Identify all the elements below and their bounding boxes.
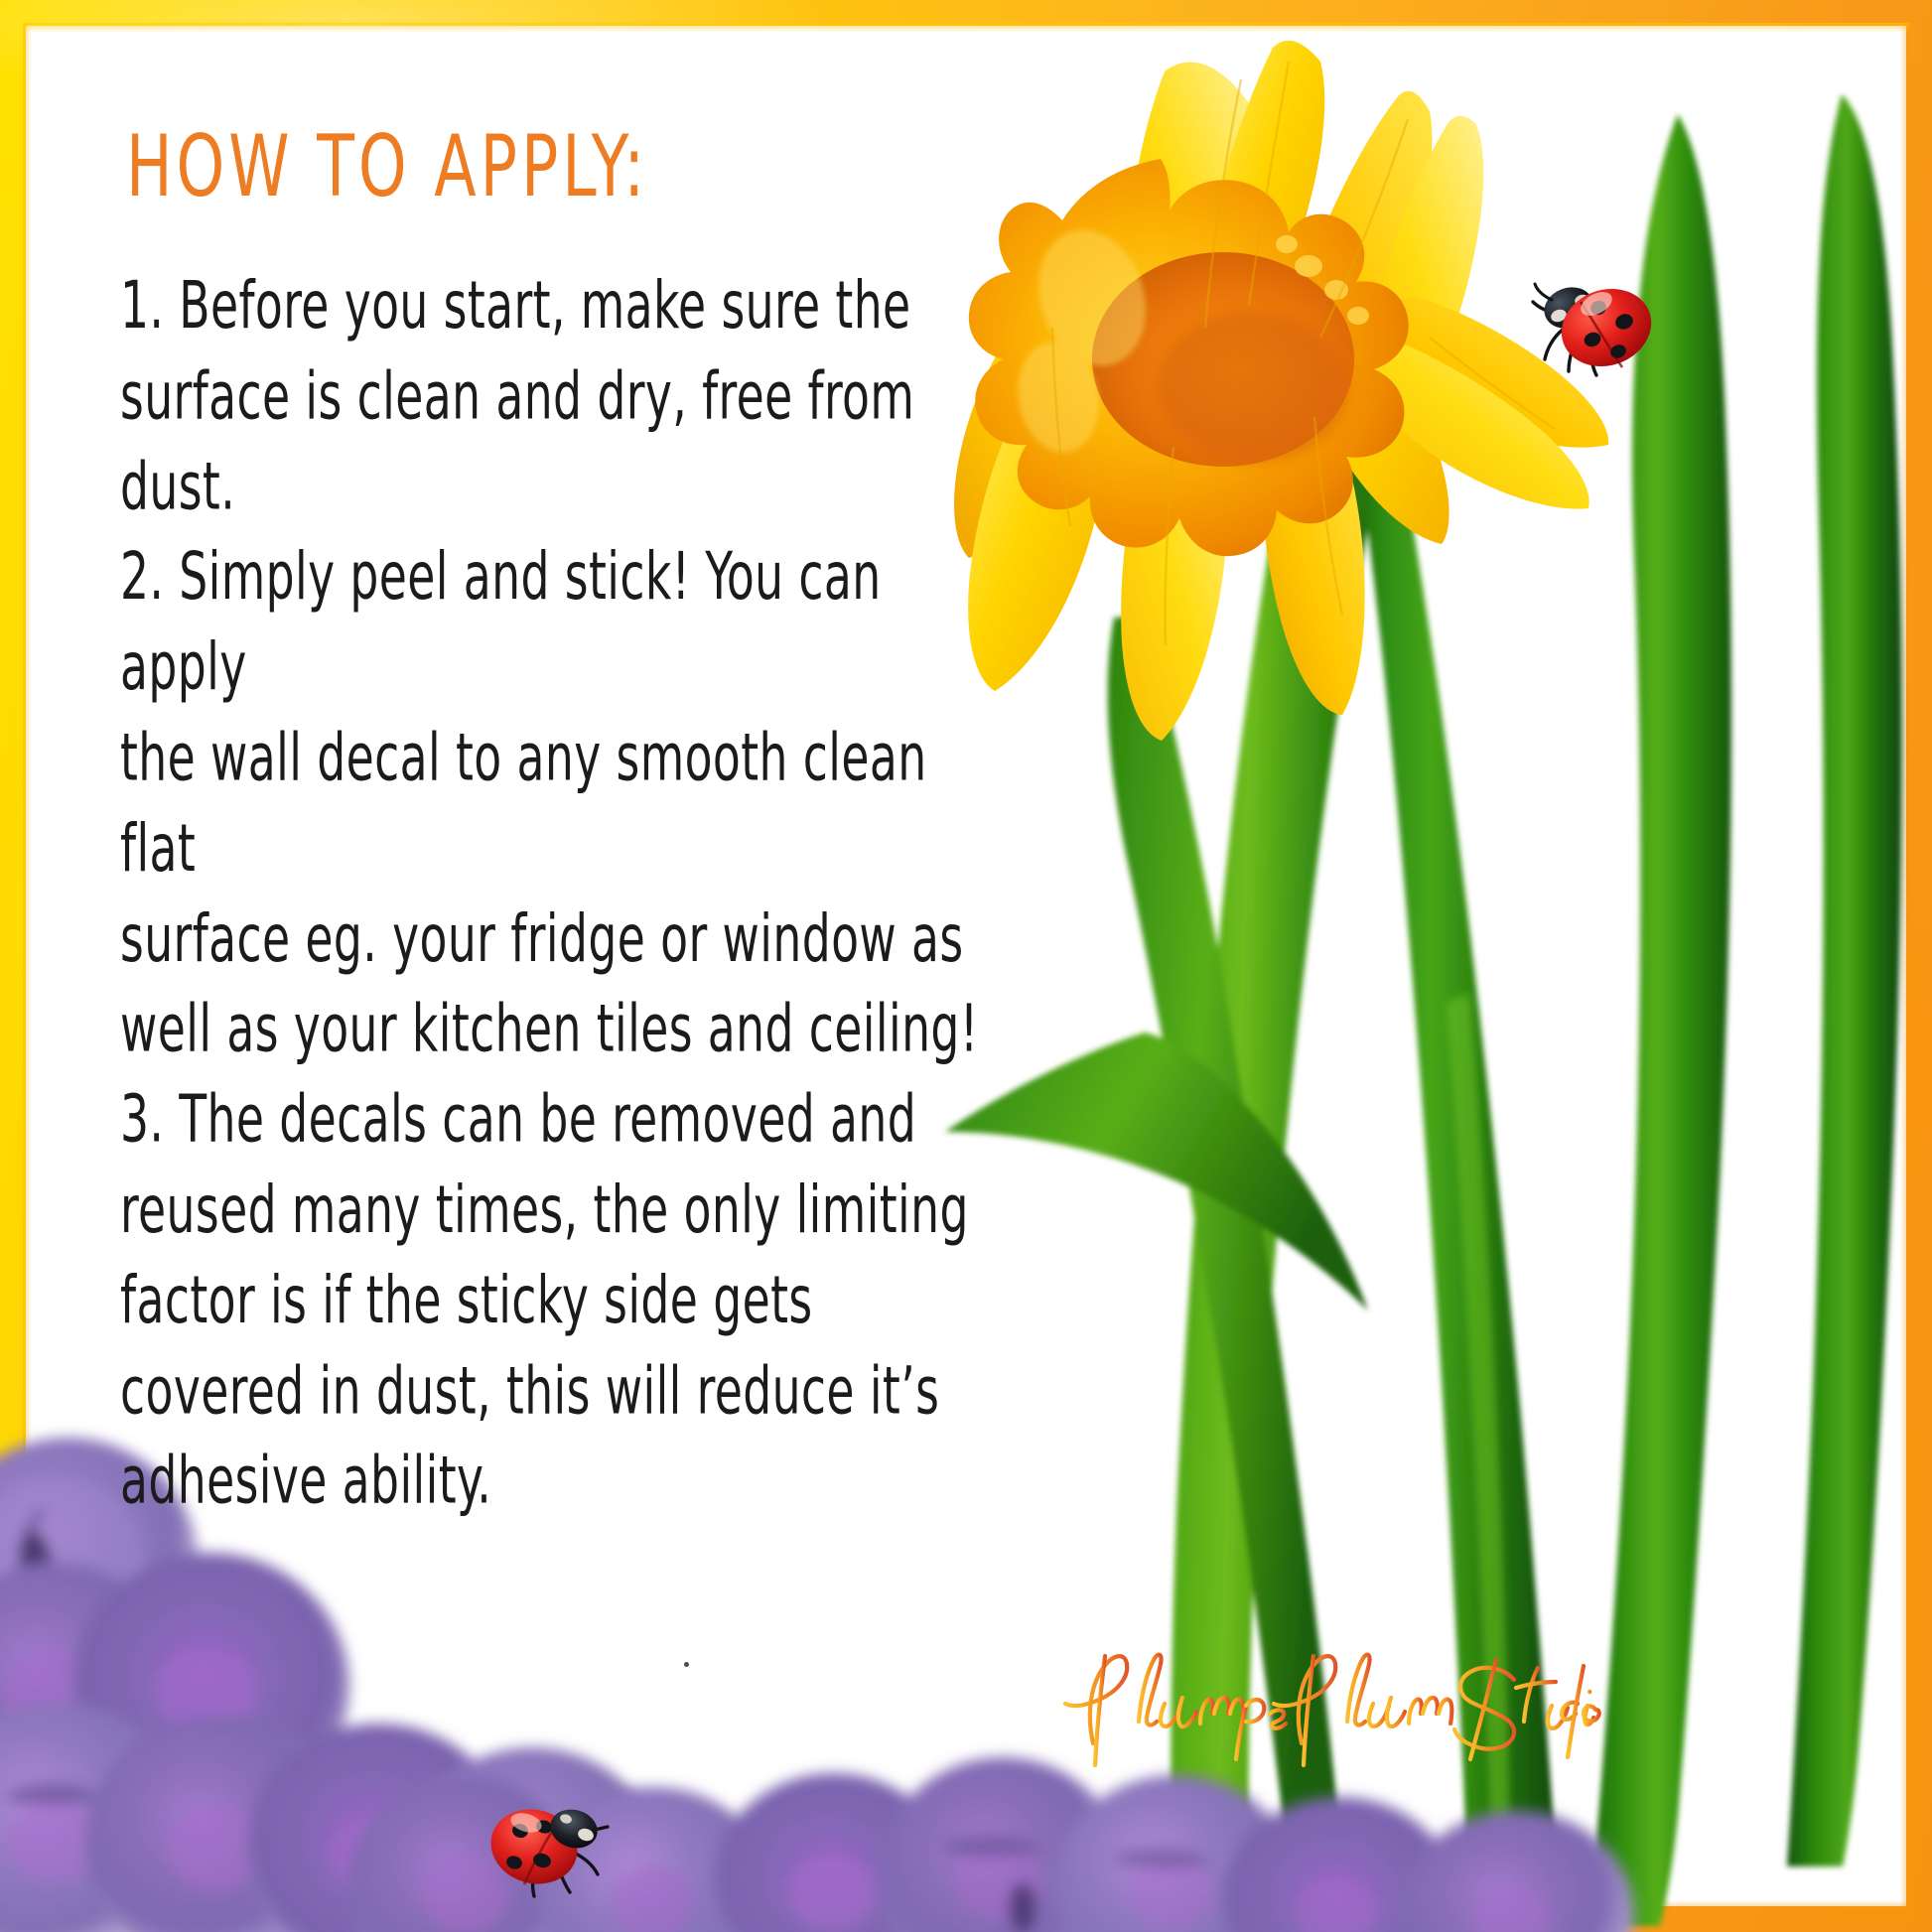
instruction-line: surface eg. your fridge or window as [120,895,993,985]
instruction-line: 1. Before you start, make sure the [120,261,993,351]
instruction-line: surface is clean and dry, free from [120,351,993,442]
instruction-steps: 1. Before you start, make sure the surfa… [120,261,993,1527]
instructions-block: HOW TO APPLY: 1. Before you start, make … [120,124,994,1412]
instruction-line: 2. Simply peel and stick! You can apply [120,532,993,713]
instruction-line: 3. The decals can be removed and [120,1075,993,1166]
instruction-line: adhesive ability. [120,1437,993,1527]
signature-strokes [1065,1655,1599,1765]
brand-signature [1047,1626,1603,1775]
instruction-line: reused many times, the only limiting [120,1166,993,1256]
instruction-line: dust. [120,442,993,532]
instruction-line: well as your kitchen tiles and ceiling! [120,985,993,1075]
poster-canvas: HOW TO APPLY: 1. Before you start, make … [0,0,1932,1932]
stray-speck [684,1662,689,1667]
instruction-line: factor is if the sticky side gets [120,1256,993,1346]
instruction-line: covered in dust, this will reduce it’s [120,1346,993,1437]
instruction-line: the wall decal to any smooth clean flat [120,713,993,894]
page-title: HOW TO APPLY: [126,124,820,209]
